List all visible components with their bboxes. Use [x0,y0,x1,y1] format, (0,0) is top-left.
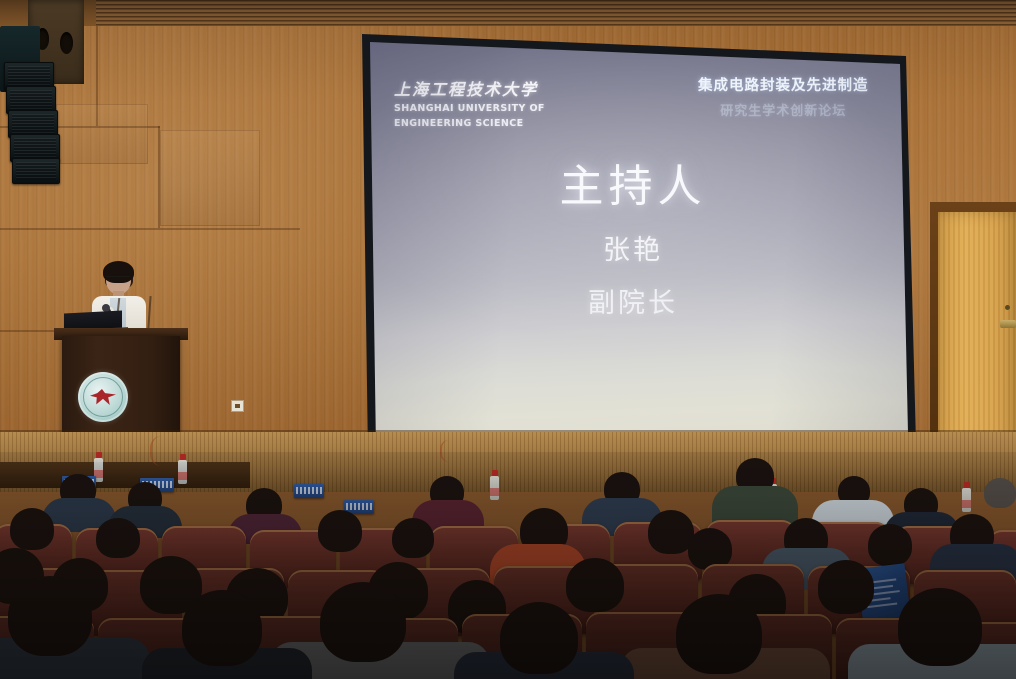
audience-head [868,524,912,566]
audience-head [898,588,982,666]
auditorium-photo: 上海工程技术大学 SHANGHAI UNIVERSITY OF ENGINEER… [0,0,1016,679]
audience-head [984,478,1016,508]
wall-panel [160,130,260,226]
emblem-bird-mark [90,389,116,405]
glasses-icon [106,276,130,282]
audience-head [818,560,874,614]
speaker-grille [8,66,50,86]
audience-head [676,594,762,674]
audience-head [566,558,624,612]
door-lock-icon [1005,305,1010,310]
host-role: 副院长 [346,281,920,320]
speaker-grille [12,114,54,134]
slide-title-block: 主持人 张艳 副院长 [346,150,920,320]
university-emblem [78,372,128,422]
audience-head [500,602,578,674]
mount-hole [60,32,73,54]
wall-panel [56,104,148,164]
university-logo: 上海工程技术大学 SHANGHAI UNIVERSITY OF ENGINEER… [394,76,545,129]
screen-surface: 上海工程技术大学 SHANGHAI UNIVERSITY OF ENGINEER… [346,24,920,456]
ceiling-slats [96,0,1016,26]
university-logo-english-line1: SHANGHAI UNIVERSITY OF [394,103,545,115]
audience-area [0,452,1016,679]
audience-head [10,508,54,550]
booklet-text-line [867,602,897,608]
host-name: 张艳 [346,228,920,267]
side-door[interactable] [938,212,1016,452]
wall-seam [0,228,300,230]
speaker-grille [16,162,56,180]
university-logo-english-line2: ENGINEERING SCIENCE [394,118,545,130]
presentation-slide: 上海工程技术大学 SHANGHAI UNIVERSITY OF ENGINEER… [346,24,920,456]
speaker-cabinet [12,158,60,184]
audience-head [96,518,140,558]
audience-head [320,582,406,662]
audience-head [8,576,92,656]
speaker-grille [14,138,56,158]
forum-title-line2: 研究生学术创新论坛 [698,100,869,119]
projection-screen: 上海工程技术大学 SHANGHAI UNIVERSITY OF ENGINEER… [346,24,920,456]
audience-head [318,510,362,552]
forum-title-line1: 集成电路封装及先进制造 [698,74,869,95]
door-wood-grain [938,212,1016,452]
university-logo-chinese: 上海工程技术大学 [394,76,545,100]
slide-heading: 主持人 [346,150,920,214]
audience-head [392,518,434,558]
wall-power-socket [231,400,244,412]
speaker-grille [10,90,52,110]
audience-head [182,590,262,666]
door-handle[interactable] [1000,320,1016,328]
forum-title-block: 集成电路封装及先进制造 研究生学术创新论坛 [698,74,869,119]
